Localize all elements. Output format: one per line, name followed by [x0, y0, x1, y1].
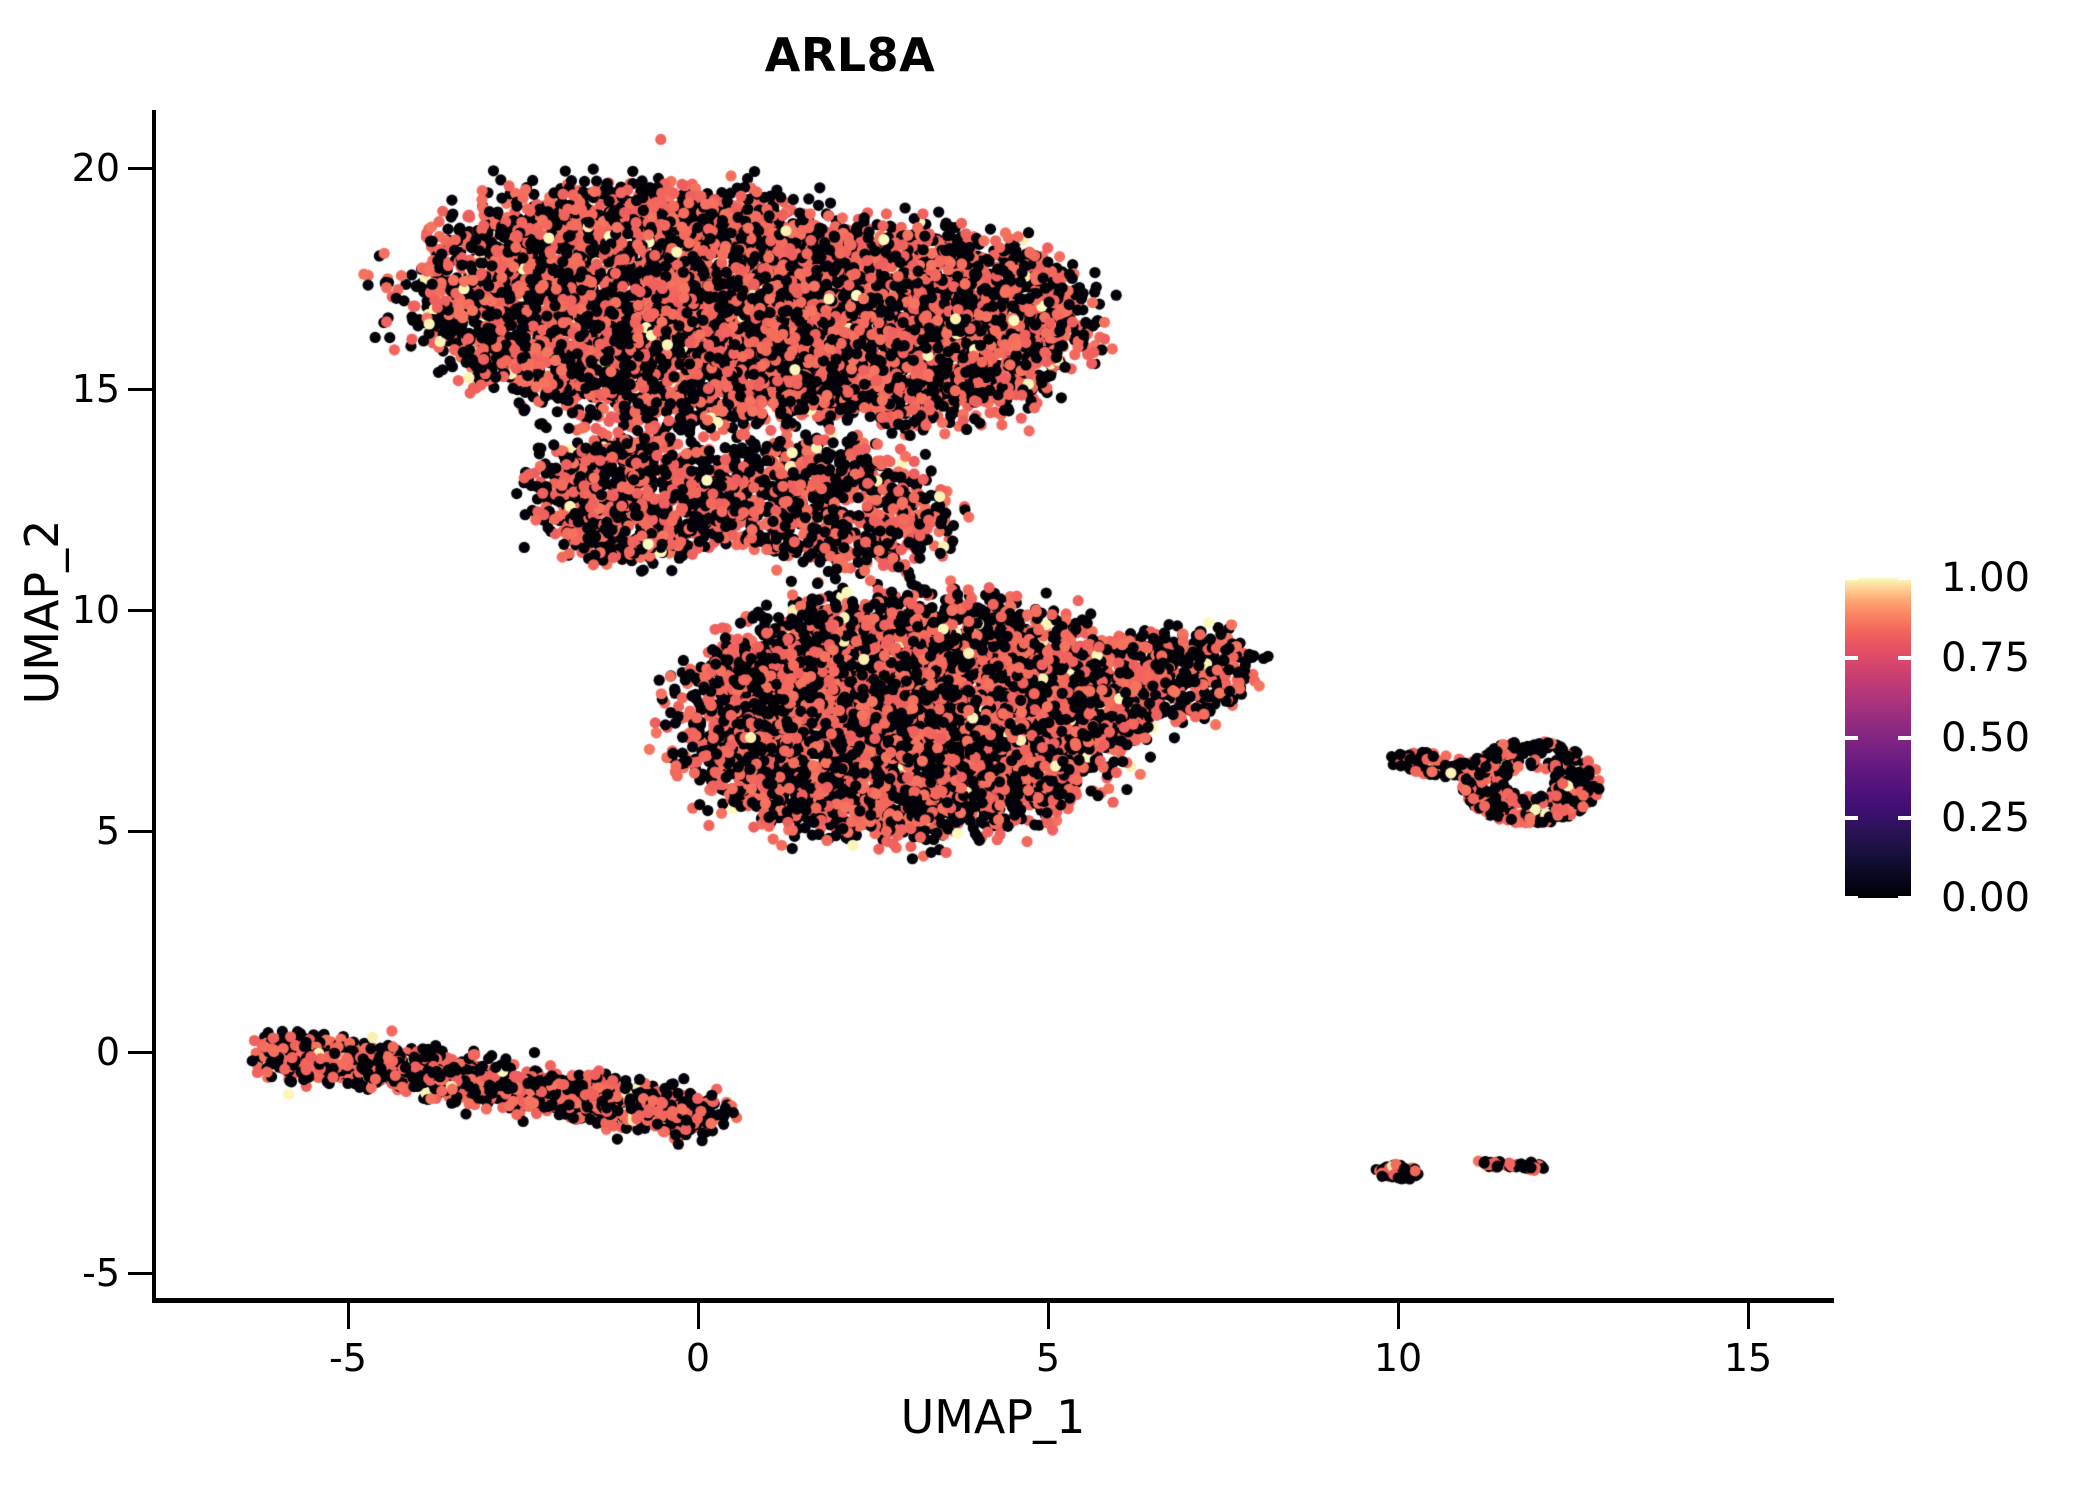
colorbar-tick	[1898, 576, 1911, 580]
colorbar-tick	[1898, 896, 1911, 900]
scatter-plot-canvas	[152, 110, 1832, 1300]
x-axis-tick-label: -5	[329, 1336, 367, 1380]
colorbar-tick	[1845, 896, 1858, 900]
x-axis-tick	[347, 1303, 350, 1329]
y-axis-tick-label: -5	[0, 1251, 120, 1295]
x-axis-tick	[1047, 1303, 1050, 1329]
y-axis-tick-label: 20	[0, 146, 120, 190]
x-axis-tick	[1747, 1303, 1750, 1329]
x-axis-tick-label: 10	[1374, 1336, 1422, 1380]
colorbar-tick-label: 0.75	[1941, 635, 2030, 681]
page-title: ARL8A	[0, 28, 1700, 82]
colorbar-tick-label: 1.00	[1941, 555, 2030, 601]
x-axis-tick-label: 0	[686, 1336, 710, 1380]
x-axis-tick-label: 5	[1036, 1336, 1060, 1380]
colorbar-tick	[1845, 816, 1858, 820]
y-axis-tick-label: 0	[0, 1030, 120, 1074]
colorbar-tick	[1898, 736, 1911, 740]
colorbar-tick	[1898, 816, 1911, 820]
y-axis-label: UMAP_2	[15, 352, 69, 872]
y-axis-tick	[128, 1272, 154, 1275]
colorbar-tick	[1845, 576, 1858, 580]
y-axis-tick	[128, 609, 154, 612]
colorbar-tick	[1845, 656, 1858, 660]
colorbar-tick	[1845, 736, 1858, 740]
x-axis-tick	[697, 1303, 700, 1329]
y-axis-tick	[128, 830, 154, 833]
colorbar-tick-label: 0.50	[1941, 715, 2030, 761]
colorbar-tick	[1898, 656, 1911, 660]
y-axis-tick	[128, 388, 154, 391]
x-axis-tick-label: 15	[1724, 1336, 1772, 1380]
y-axis-tick	[128, 167, 154, 170]
y-axis-tick	[128, 1051, 154, 1054]
colorbar-tick-label: 0.25	[1941, 795, 2030, 841]
x-axis-label: UMAP_1	[152, 1390, 1834, 1444]
colorbar-tick-label: 0.00	[1941, 875, 2030, 921]
x-axis-tick	[1397, 1303, 1400, 1329]
umap-feature-plot: ARL8A -505101520 -5051015 UMAP_2 UMAP_1 …	[0, 0, 2100, 1500]
